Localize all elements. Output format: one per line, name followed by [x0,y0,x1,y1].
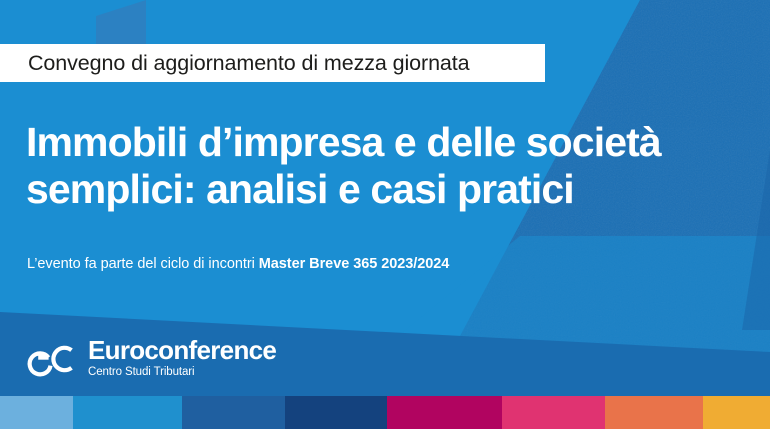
logo-name: Euroconference [88,336,276,365]
logo-wordmark: Euroconference Centro Studi Tributari [88,336,276,379]
stripe-segment-light-blue [0,396,73,429]
ec-monogram-icon [26,337,78,381]
subtitle-series-name: Master Breve 365 2023/2024 [259,256,450,272]
kicker-label: Convegno di aggiornamento di mezza giorn… [0,44,545,82]
brand-color-stripe [0,396,770,429]
stripe-segment-navy-blue [285,396,387,429]
stripe-segment-cyan-blue [73,396,182,429]
stripe-segment-steel-blue [182,396,285,429]
logo-tagline: Centro Studi Tributari [88,366,276,379]
page-title: Immobili d’impresa e delle società sempl… [26,119,716,213]
subtitle-prefix: L’evento fa parte del ciclo di incontri [27,256,259,272]
event-promo-banner: Convegno di aggiornamento di mezza giorn… [0,0,770,429]
stripe-segment-pink [502,396,605,429]
stripe-segment-orange [605,396,703,429]
stripe-segment-golden-yellow [703,396,770,429]
subtitle: L’evento fa parte del ciclo di incontri … [27,256,449,272]
stripe-segment-magenta [387,396,502,429]
euroconference-logo: Euroconference Centro Studi Tributari [26,336,276,381]
kicker-text: Convegno di aggiornamento di mezza giorn… [28,51,470,76]
